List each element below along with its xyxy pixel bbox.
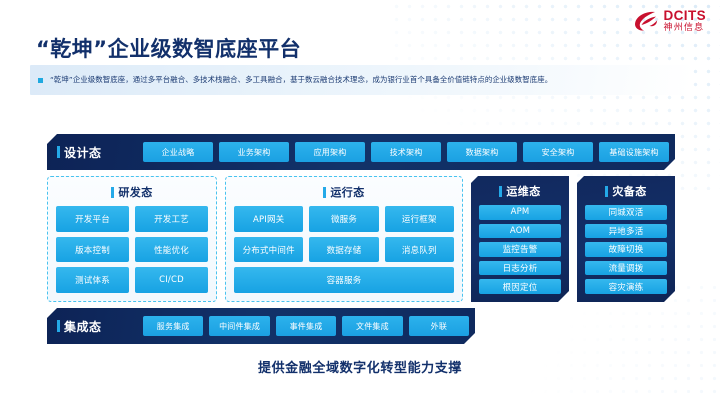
footer-caption: 提供金融全域数字化转型能力支撑 [0,357,720,376]
integration-state-title: 集成态 [57,318,143,335]
rd-cell[interactable]: 开发平台 [56,206,129,232]
runtime-cell[interactable]: 消息队列 [385,237,454,263]
ops-state-label: 运维态 [506,183,540,199]
dr-list-row: 容灾演练 [585,279,667,294]
accent-bar-icon [499,186,502,197]
rd-cell[interactable]: 开发工艺 [135,206,208,232]
accent-bar-icon [323,187,326,198]
runtime-cell[interactable]: 数据存储 [309,237,378,263]
runtime-grid-row: 容器服务 [234,267,454,293]
design-state-row: 设计态 企业战略 业务架构 应用架构 技术架构 数据架构 安全架构 基础设施架构 [47,134,675,170]
dr-list-row: 故障切换 [585,242,667,257]
dr-list-row: 异地多活 [585,224,667,239]
ops-cell[interactable]: 日志分析 [479,261,561,276]
dr-state-list: 同城双活 异地多活 故障切换 流量调拨 容灾演练 [585,205,667,294]
design-state-label: 设计态 [64,144,102,161]
dr-list-row: 同城双活 [585,205,667,220]
runtime-cell[interactable]: 运行框架 [385,206,454,232]
ops-cell[interactable]: 根因定位 [479,279,561,294]
ops-state-panel: 运维态 APM AOM 监控告警 日志分析 根因定位 [471,176,569,302]
ops-state-header: 运维态 [479,182,561,200]
subtitle-band: “乾坤”企业级数智底座，通过多平台融合、多技术栈融合、多工具融合，基于数云融合技… [30,65,690,95]
runtime-cell-wide[interactable]: 容器服务 [234,267,454,293]
dr-state-panel: 灾备态 同城双活 异地多活 故障切换 流量调拨 容灾演练 [577,176,675,302]
rd-cell[interactable]: 性能优化 [135,237,208,263]
logo-text-en: DCITS [664,9,707,23]
rd-grid-row: 测试体系 CI/CD [56,267,208,293]
design-chip[interactable]: 安全架构 [523,142,593,162]
rd-grid-row: 版本控制 性能优化 [56,237,208,263]
subtitle-text: “乾坤”企业级数智底座，通过多平台融合、多技术栈融合、多工具融合，基于数云融合技… [50,75,552,85]
dr-cell[interactable]: 故障切换 [585,242,667,257]
accent-bar-icon [111,187,114,198]
design-chip[interactable]: 数据架构 [447,142,517,162]
dr-cell[interactable]: 容灾演练 [585,279,667,294]
swoosh-logo-icon [633,9,659,33]
accent-bar-icon [57,320,60,332]
design-chip[interactable]: 业务架构 [219,142,289,162]
ops-list-row: APM [479,205,561,220]
accent-bar-icon [57,146,60,158]
company-logo: DCITS 神州信息 [633,9,707,33]
design-chip[interactable]: 基础设施架构 [599,142,669,162]
integration-state-row: 集成态 服务集成 中间件集成 事件集成 文件集成 外联 [47,308,475,344]
runtime-grid-row: 分布式中间件 数据存储 消息队列 [234,237,454,263]
rd-state-label: 研发态 [118,184,152,200]
rd-state-panel: 研发态 开发平台 开发工艺 版本控制 性能优化 测试体系 CI/CD [47,176,217,302]
ops-cell[interactable]: AOM [479,224,561,239]
ops-list-row: 监控告警 [479,242,561,257]
rd-state-grid: 开发平台 开发工艺 版本控制 性能优化 测试体系 CI/CD [56,206,208,293]
design-state-title: 设计态 [57,144,143,161]
design-chip[interactable]: 企业战略 [143,142,213,162]
ops-list-row: 日志分析 [479,261,561,276]
design-chip[interactable]: 技术架构 [371,142,441,162]
runtime-state-panel: 运行态 API网关 微服务 运行框架 分布式中间件 数据存储 消息队列 容器服务 [225,176,463,302]
runtime-state-grid: API网关 微服务 运行框架 分布式中间件 数据存储 消息队列 容器服务 [234,206,454,293]
integration-chip[interactable]: 中间件集成 [209,316,269,336]
runtime-grid-row: API网关 微服务 运行框架 [234,206,454,232]
runtime-cell[interactable]: 微服务 [309,206,378,232]
rd-cell[interactable]: 版本控制 [56,237,129,263]
design-state-chips: 企业战略 业务架构 应用架构 技术架构 数据架构 安全架构 基础设施架构 [143,142,669,162]
runtime-cell[interactable]: API网关 [234,206,303,232]
dr-cell[interactable]: 异地多活 [585,224,667,239]
ops-list-row: AOM [479,224,561,239]
rd-state-header: 研发态 [56,183,208,201]
rd-grid-row: 开发平台 开发工艺 [56,206,208,232]
dr-cell[interactable]: 流量调拨 [585,261,667,276]
ops-state-list: APM AOM 监控告警 日志分析 根因定位 [479,205,561,294]
architecture-diagram: 设计态 企业战略 业务架构 应用架构 技术架构 数据架构 安全架构 基础设施架构… [47,134,675,344]
middle-panels-row: 研发态 开发平台 开发工艺 版本控制 性能优化 测试体系 CI/CD [47,176,675,302]
bullet-square-icon [38,78,43,83]
runtime-cell[interactable]: 分布式中间件 [234,237,303,263]
design-chip[interactable]: 应用架构 [295,142,365,162]
dr-list-row: 流量调拨 [585,261,667,276]
integration-chip[interactable]: 外联 [409,316,469,336]
integration-chip[interactable]: 服务集成 [143,316,203,336]
runtime-state-label: 运行态 [330,184,364,200]
rd-cell[interactable]: 测试体系 [56,267,129,293]
ops-list-row: 根因定位 [479,279,561,294]
accent-bar-icon [605,186,608,197]
rd-cell[interactable]: CI/CD [135,267,208,293]
ops-cell[interactable]: 监控告警 [479,242,561,257]
dr-state-header: 灾备态 [585,182,667,200]
ops-cell[interactable]: APM [479,205,561,220]
runtime-state-header: 运行态 [234,183,454,201]
integration-chip[interactable]: 文件集成 [342,316,402,336]
integration-state-chips: 服务集成 中间件集成 事件集成 文件集成 外联 [143,316,469,336]
dr-state-label: 灾备态 [612,183,646,199]
dr-cell[interactable]: 同城双活 [585,205,667,220]
integration-state-label: 集成态 [64,318,102,335]
page-title: “乾坤”企业级数智底座平台 [36,33,301,63]
integration-chip[interactable]: 事件集成 [276,316,336,336]
logo-text-cn: 神州信息 [664,24,707,33]
